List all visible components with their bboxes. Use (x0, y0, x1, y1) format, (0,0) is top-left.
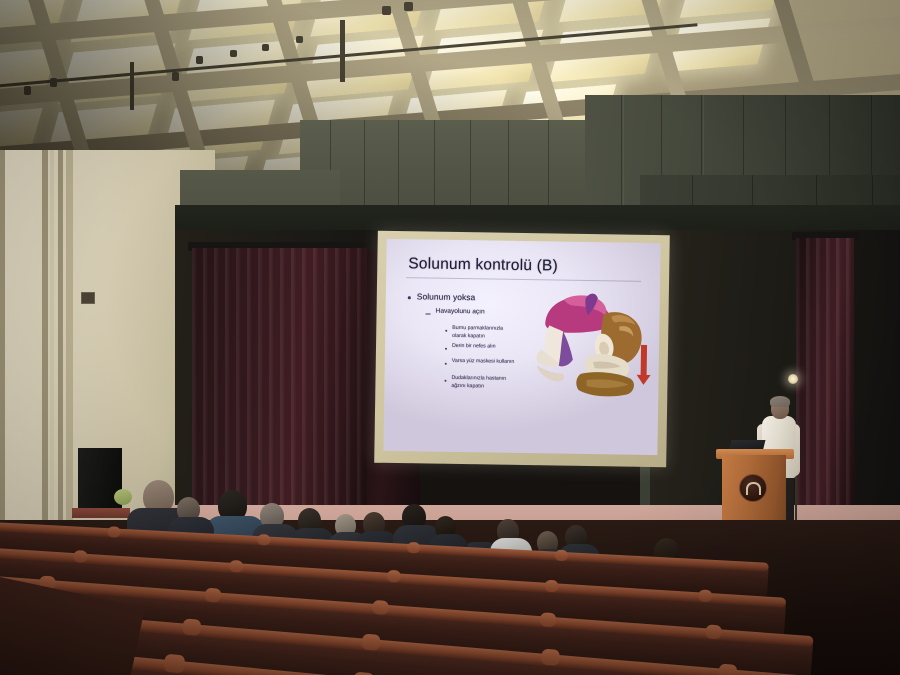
slide-bullet-level2: Havayolunu açın (436, 308, 485, 316)
spotlight-fixture (230, 50, 237, 57)
institution-seal-icon (739, 474, 767, 502)
wall-pilaster (58, 150, 63, 550)
spotlight-fixture (24, 86, 31, 95)
presenter-hair (770, 396, 790, 407)
wall-plaque (81, 292, 95, 304)
spotlight-fixture (196, 56, 203, 64)
stage-curtain-left (192, 248, 367, 520)
bullet-marker-level3 (445, 348, 447, 350)
speaker-trolley (72, 508, 130, 518)
spotlight-fixture (262, 44, 269, 51)
slide-subbullet: olarak kapatın (452, 333, 485, 341)
bullet-marker-level1 (408, 296, 411, 299)
slide-subbullet: ağzını kapatın (451, 383, 484, 391)
slide-title: Solunum kontrolü (B) (408, 255, 558, 275)
slide-bullet-level1: Solunum yoksa (417, 291, 476, 302)
spotlight-fixture (404, 2, 413, 11)
projection-screen[interactable]: Solunum kontrolü (B) Solunum yoksa Havay… (374, 231, 670, 468)
slide-subbullet: Burnu parmaklarınızla (452, 325, 503, 333)
spotlight-fixture (296, 36, 303, 43)
slide-subbullet: Derin bir nefes alın (452, 343, 496, 351)
track-hanger (130, 62, 134, 110)
bullet-marker-level3 (445, 363, 447, 365)
bullet-marker-level3 (445, 330, 447, 332)
wall-pilaster (66, 150, 73, 550)
bullet-marker-level3 (444, 380, 446, 382)
spotlight-fixture (382, 6, 391, 15)
slide-surface: Solunum kontrolü (B) Solunum yoksa Havay… (383, 239, 660, 455)
slide-subbullet: Dudaklarınızla hastanın (451, 375, 506, 383)
wall-lamp-icon (788, 374, 798, 384)
auditorium-photo-scene: Solunum kontrolü (B) Solunum yoksa Havay… (0, 0, 900, 675)
slide-title-rule (406, 277, 641, 282)
ceiling-light-panel (680, 0, 785, 18)
wall-pilaster (0, 150, 5, 550)
wall-pilaster (42, 150, 48, 550)
bullet-marker-level2 (426, 313, 431, 314)
spotlight-fixture (50, 78, 57, 87)
wall-pilaster (50, 150, 54, 550)
slide-subbullet: Varsa yüz maskesi kullanın (452, 358, 515, 366)
track-hanger (340, 20, 345, 82)
seal-mark (746, 482, 761, 495)
rescue-breathing-illustration (532, 281, 654, 408)
spotlight-fixture (172, 72, 179, 81)
